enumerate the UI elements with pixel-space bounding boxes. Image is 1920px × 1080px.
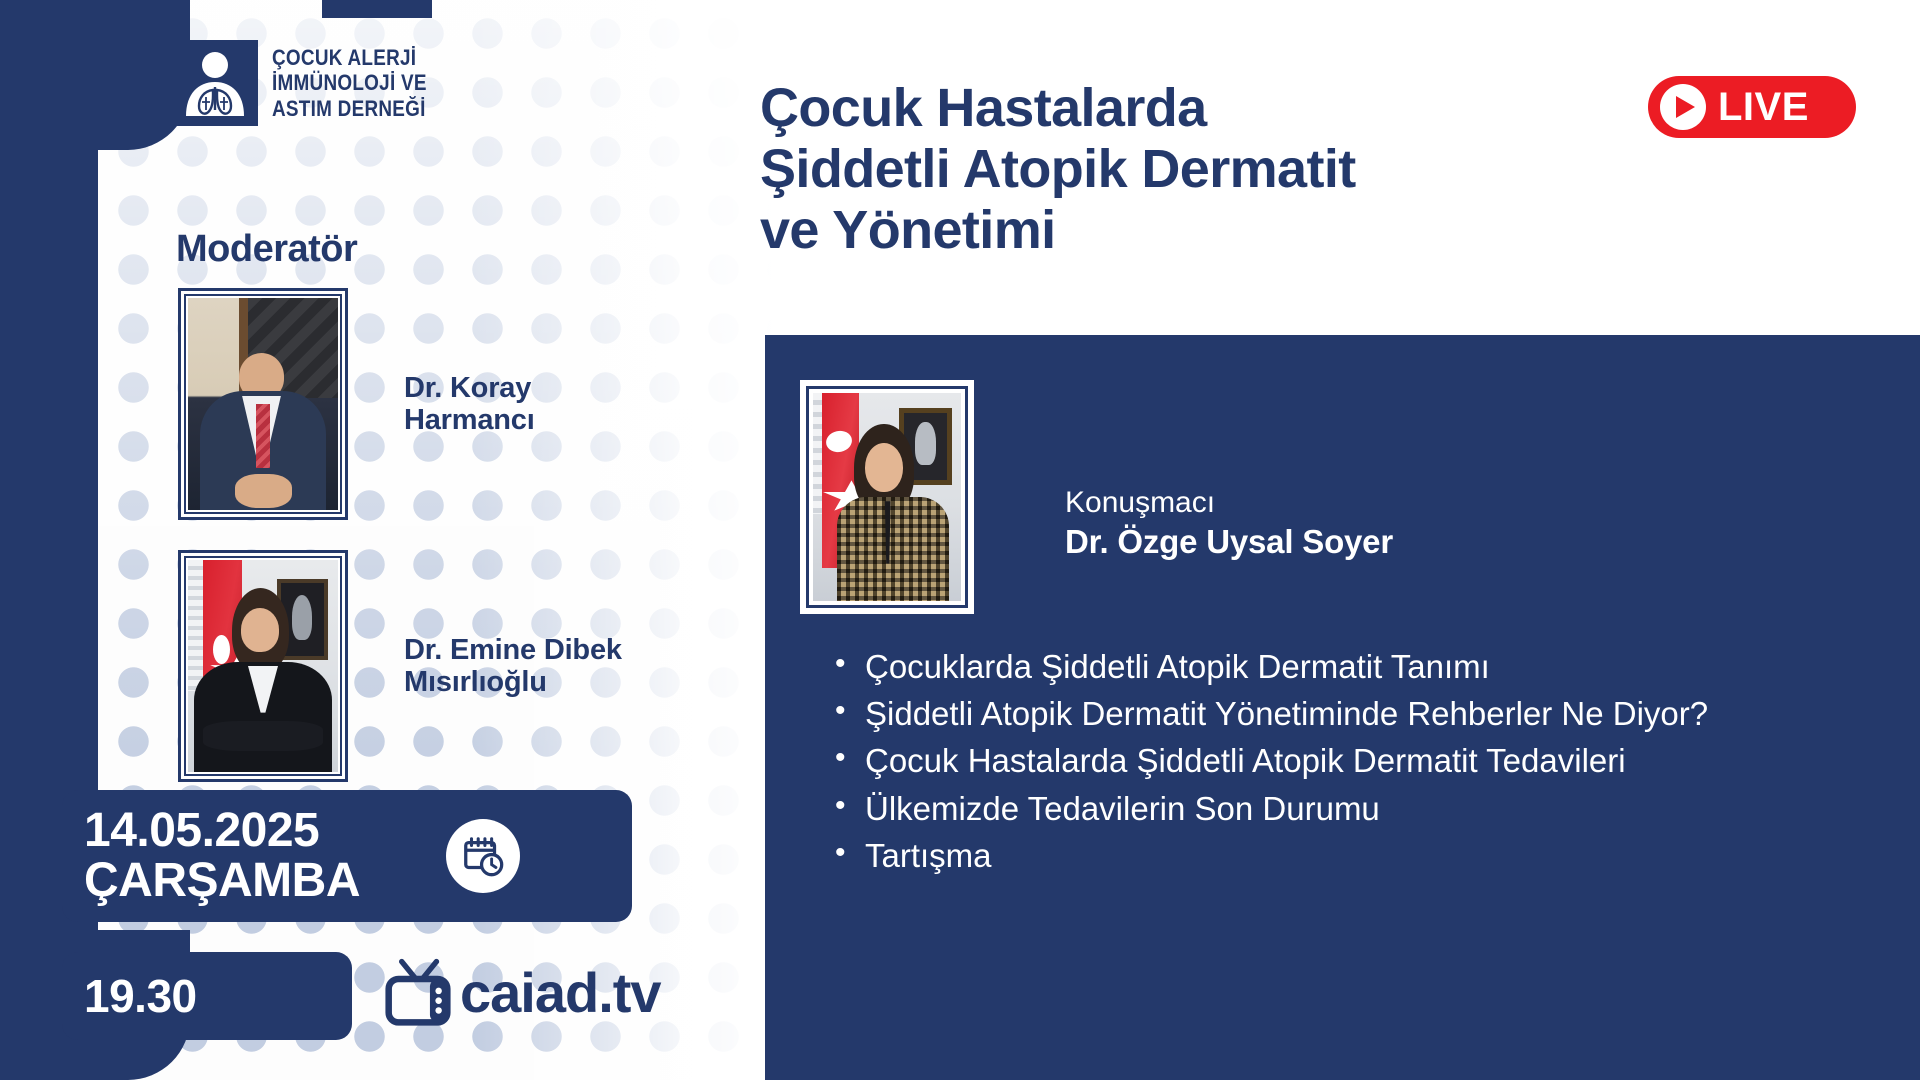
moderator-name-2: Dr. Emine Dibek Mısırlıoğlu <box>404 634 622 699</box>
list-item: Çocuklarda Şiddetli Atopik Dermatit Tanı… <box>827 645 1867 689</box>
list-item: Çocuk Hastalarda Şiddetli Atopik Dermati… <box>827 739 1867 783</box>
moderator-item-1: Dr. Koray Harmancı <box>178 288 535 520</box>
list-item: Ülkemizde Tedavilerin Son Durumu <box>827 787 1867 831</box>
top-navy-tab <box>322 0 432 18</box>
left-top-rounded-shape <box>0 0 190 150</box>
person-lungs-icon <box>172 40 258 126</box>
list-item: Şiddetli Atopik Dermatit Yönetiminde Reh… <box>827 692 1867 736</box>
time-badge: 19.30 <box>62 952 352 1040</box>
television-icon <box>380 955 456 1029</box>
topic-list: Çocuklarda Şiddetli Atopik Dermatit Tanı… <box>827 645 1867 881</box>
speaker-panel: Konuşmacı Dr. Özge Uysal Soyer Çocuklard… <box>765 335 1920 1080</box>
moderator-name-1: Dr. Koray Harmancı <box>404 372 535 437</box>
play-icon <box>1660 84 1706 130</box>
speaker-name: Dr. Özge Uysal Soyer <box>1065 521 1393 562</box>
event-time: 19.30 <box>84 969 197 1023</box>
association-name: ÇOCUK ALERJİ İMMÜNOLOJİ VE ASTIM DERNEĞİ <box>272 45 427 120</box>
page-title: Çocuk Hastalarda Şiddetli Atopik Dermati… <box>760 78 1640 261</box>
moderator-photo-2 <box>178 550 348 782</box>
channel-row[interactable]: caiad.tv <box>380 955 661 1029</box>
webinar-poster: ÇOCUK ALERJİ İMMÜNOLOJİ VE ASTIM DERNEĞİ… <box>0 0 1920 1080</box>
live-badge[interactable]: LIVE <box>1648 76 1856 138</box>
event-date: 14.05.2025 ÇARŞAMBA <box>84 806 360 906</box>
association-logo: ÇOCUK ALERJİ İMMÜNOLOJİ VE ASTIM DERNEĞİ <box>172 40 452 126</box>
speaker-meta: Konuşmacı Dr. Özge Uysal Soyer <box>1065 485 1393 562</box>
speaker-role: Konuşmacı <box>1065 485 1393 521</box>
list-item: Tartışma <box>827 834 1867 878</box>
moderator-heading: Moderatör <box>176 228 357 271</box>
live-label: LIVE <box>1718 85 1809 130</box>
moderator-item-2: Dr. Emine Dibek Mısırlıoğlu <box>178 550 622 782</box>
speaker-photo <box>800 380 974 614</box>
moderator-photo-1 <box>178 288 348 520</box>
calendar-clock-icon <box>446 819 520 893</box>
date-badge: 14.05.2025 ÇARŞAMBA <box>62 790 632 922</box>
channel-site: caiad.tv <box>460 960 661 1025</box>
